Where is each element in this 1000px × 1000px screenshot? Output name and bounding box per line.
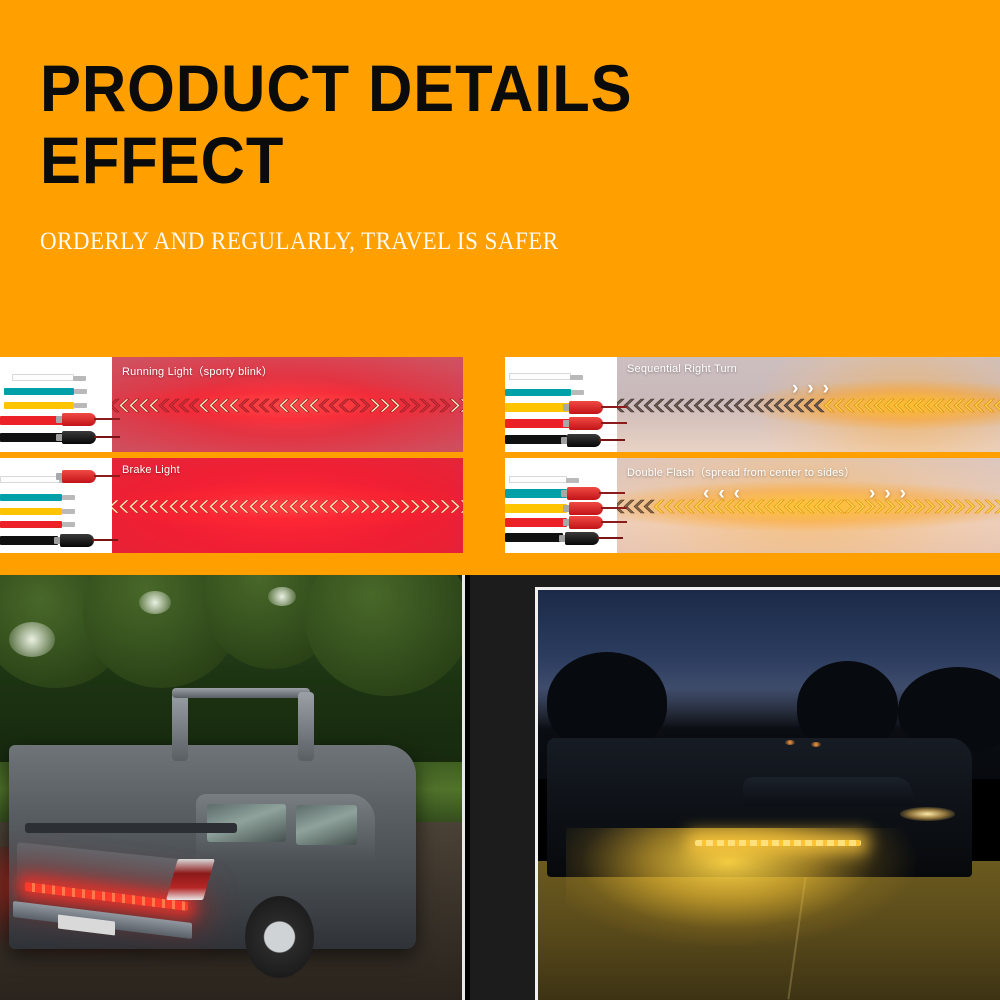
roll-bar-top <box>172 688 310 698</box>
led-chevron-row <box>112 397 463 414</box>
title-line-2: EFFECT <box>40 124 877 196</box>
demo-panel-column-right: › › › Sequential Right Turn <box>505 357 1000 553</box>
alligator-clip-red-yellow <box>563 401 603 414</box>
wire-harness-double <box>505 458 617 553</box>
wire-teal <box>4 388 74 395</box>
chevron-right-icon: › <box>869 484 875 503</box>
wire-black <box>505 533 563 542</box>
flash-arrow-overlay-right: › › › <box>869 484 906 503</box>
alligator-clip-black <box>54 534 94 547</box>
tree-canopy-background <box>0 575 462 771</box>
wire-harness-brake <box>0 458 112 553</box>
chevron-left-icon: ‹ <box>703 484 709 503</box>
wire-black <box>0 536 58 545</box>
demo-panel-brake-light: Brake Light <box>0 458 463 553</box>
led-strip-turn <box>617 397 1000 414</box>
panel-label-brake-light: Brake Light <box>122 464 180 476</box>
wire-teal <box>505 489 567 498</box>
led-strip-brake <box>112 498 463 515</box>
led-scene-double-flash: ‹ ‹ ‹ › › › Double Flash（spread from cen… <box>617 458 1000 553</box>
led-strip-running <box>112 397 463 414</box>
led-chevron <box>993 499 1000 514</box>
photo-half-left <box>0 575 470 1000</box>
led-scene-turn: › › › Sequential Right Turn <box>617 357 1000 452</box>
panel-label-double-flash: Double Flash（spread from center to sides… <box>627 464 855 480</box>
demo-panel-column-left: Running Light（sporty blink） <box>0 357 463 553</box>
alligator-clip-black <box>56 431 96 444</box>
led-scene-brake: Brake Light <box>112 458 463 553</box>
photo-tailgate-daytime <box>0 575 465 1000</box>
page-subtitle: ORDERLY AND REGULARLY, TRAVEL IS SAFER <box>40 228 559 256</box>
photo-half-right <box>470 575 1000 1000</box>
roof-marker-light <box>811 742 821 747</box>
wire-white <box>0 476 60 483</box>
wire-teal <box>505 389 571 396</box>
led-chevron-row <box>617 397 1000 414</box>
bed-rail <box>25 823 236 833</box>
turn-arrow-overlay-right: › › › <box>792 379 829 398</box>
led-scene-running: Running Light（sporty blink） <box>112 357 463 452</box>
headlight-glow <box>900 807 955 821</box>
rear-wheel <box>245 896 314 978</box>
wire-white <box>509 476 567 483</box>
alligator-clip-black <box>561 434 601 447</box>
alligator-clip-black <box>559 532 599 545</box>
roof-marker-light <box>785 740 795 745</box>
led-chevron <box>993 398 1000 413</box>
alligator-clip-red <box>56 413 96 426</box>
led-underglow-strip-amber <box>695 840 861 846</box>
panel-label-running-light: Running Light（sporty blink） <box>122 363 273 379</box>
wire-yellow <box>4 402 74 409</box>
wire-black <box>505 435 567 444</box>
led-chevron <box>458 499 463 514</box>
truck-cab-night <box>743 777 913 808</box>
title-line-1: PRODUCT DETAILS <box>40 51 633 125</box>
page-title: PRODUCT DETAILS EFFECT <box>40 52 877 196</box>
chevron-left-icon: ‹ <box>718 484 724 503</box>
product-photo-section <box>0 575 1000 1000</box>
chevron-right-icon: › <box>792 379 798 398</box>
flash-arrow-overlay-left: ‹ ‹ ‹ <box>703 484 740 503</box>
wire-red <box>505 518 567 527</box>
led-chevron-row <box>112 498 463 515</box>
demo-panel-grid: Running Light（sporty blink） <box>0 357 1000 553</box>
chevron-right-icon: › <box>900 484 906 503</box>
panel-label-sequential-right-turn: Sequential Right Turn <box>627 363 737 375</box>
wire-red <box>505 419 571 428</box>
header-banner: PRODUCT DETAILS EFFECT ORDERLY AND REGUL… <box>0 0 1000 357</box>
wire-yellow <box>505 504 567 513</box>
truck-body <box>9 745 416 949</box>
wire-harness-turn <box>505 357 617 452</box>
alligator-clip-red <box>56 470 96 483</box>
amber-light-pool <box>566 828 926 1000</box>
chevron-right-icon: › <box>823 379 829 398</box>
wire-white <box>12 374 74 381</box>
alligator-clip-red-teal <box>561 487 601 500</box>
photo-underglow-night <box>535 587 1000 1000</box>
roll-bar-right <box>298 692 314 761</box>
chevron-right-icon: › <box>807 379 813 398</box>
demo-panel-double-flash: ‹ ‹ ‹ › › › Double Flash（spread from cen… <box>505 458 1000 553</box>
wire-harness-running <box>0 357 112 452</box>
demo-panel-running-light: Running Light（sporty blink） <box>0 357 463 452</box>
wire-yellow <box>0 508 62 515</box>
chevron-left-icon: ‹ <box>734 484 740 503</box>
wire-white <box>509 373 571 380</box>
product-detail-page: PRODUCT DETAILS EFFECT ORDERLY AND REGUL… <box>0 0 1000 1000</box>
roll-bar <box>172 692 188 761</box>
alligator-clip-red-yellow <box>563 502 603 515</box>
alligator-clip-red <box>563 516 603 529</box>
demo-panel-sequential-right-turn: › › › Sequential Right Turn <box>505 357 1000 452</box>
led-chevron <box>458 398 463 413</box>
led-strip-double-flash <box>617 498 1000 515</box>
wire-teal <box>0 494 62 501</box>
led-chevron-row <box>617 498 1000 515</box>
side-window <box>296 805 357 845</box>
chevron-right-icon: › <box>884 484 890 503</box>
alligator-clip-red <box>563 417 603 430</box>
wire-red <box>0 521 62 528</box>
